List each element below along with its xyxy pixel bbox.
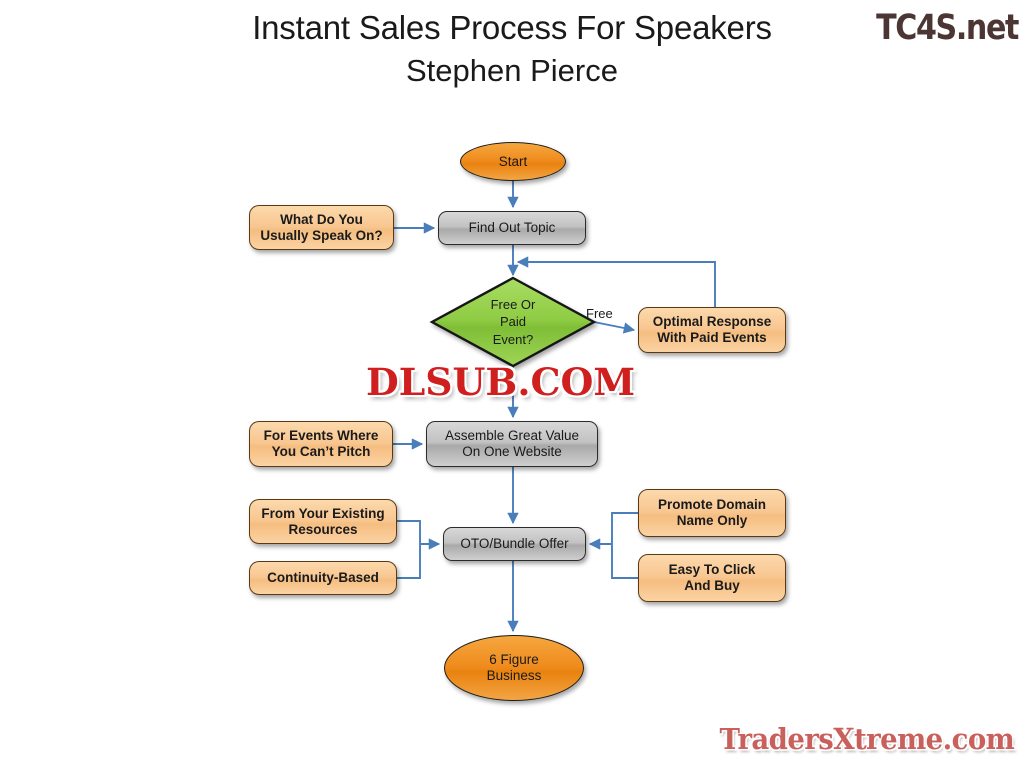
node-continuity-based[interactable]: Continuity-Based xyxy=(249,561,397,595)
node-for-events-where-you-cant-pitch[interactable]: For Events WhereYou Can’t Pitch xyxy=(249,421,393,467)
node-free-or-paid-event[interactable]: Free OrPaidEvent? xyxy=(432,278,594,366)
edge-promote-bracket xyxy=(612,513,638,544)
edge-label-free: Free xyxy=(586,306,613,321)
node-from-your-existing-resources[interactable]: From Your ExistingResources xyxy=(249,499,397,544)
node-oto-bundle-offer-label: OTO/Bundle Offer xyxy=(460,536,568,552)
node-oto-bundle-offer[interactable]: OTO/Bundle Offer xyxy=(443,527,586,561)
node-find-out-topic-label: Find Out Topic xyxy=(469,220,556,236)
node-what-do-you-usually-speak-on[interactable]: What Do YouUsually Speak On? xyxy=(249,205,394,250)
node-promote-domain-name-only-label: Promote DomainName Only xyxy=(658,497,766,529)
node-assemble-great-value-label: Assemble Great ValueOn One Website xyxy=(445,428,579,460)
node-optimal-response-label: Optimal ResponseWith Paid Events xyxy=(653,314,772,346)
node-easy-to-click-and-buy[interactable]: Easy To ClickAnd Buy xyxy=(638,554,786,602)
node-6-figure-business-label: 6 FigureBusiness xyxy=(487,652,542,684)
node-start-label: Start xyxy=(499,154,528,170)
dlsub-watermark: DLSUB.COM xyxy=(366,360,635,404)
edge-existing-bracket xyxy=(397,521,420,544)
node-for-events-where-you-cant-pitch-label: For Events WhereYou Can’t Pitch xyxy=(264,428,379,460)
node-optimal-response-with-paid-events[interactable]: Optimal ResponseWith Paid Events xyxy=(638,307,786,353)
node-promote-domain-name-only[interactable]: Promote DomainName Only xyxy=(638,489,786,537)
edge-label-free-text: Free xyxy=(586,306,613,321)
node-assemble-great-value-on-one-website[interactable]: Assemble Great ValueOn One Website xyxy=(426,421,598,467)
edge-decision-optimal xyxy=(594,322,634,330)
node-free-or-paid-event-label: Free OrPaidEvent? xyxy=(491,296,536,349)
node-find-out-topic[interactable]: Find Out Topic xyxy=(438,211,586,245)
node-easy-to-click-and-buy-label: Easy To ClickAnd Buy xyxy=(669,562,756,594)
node-continuity-based-label: Continuity-Based xyxy=(267,570,379,586)
slide-canvas: Instant Sales Process For Speakers Steph… xyxy=(0,0,1024,768)
node-what-do-you-usually-speak-on-label: What Do YouUsually Speak On? xyxy=(260,212,382,244)
node-start[interactable]: Start xyxy=(460,142,566,181)
edge-easy-bracket xyxy=(612,544,638,578)
node-from-your-existing-resources-label: From Your ExistingResources xyxy=(261,506,384,538)
edge-continuity-bracket xyxy=(397,544,420,578)
node-6-figure-business[interactable]: 6 FigureBusiness xyxy=(444,635,584,701)
